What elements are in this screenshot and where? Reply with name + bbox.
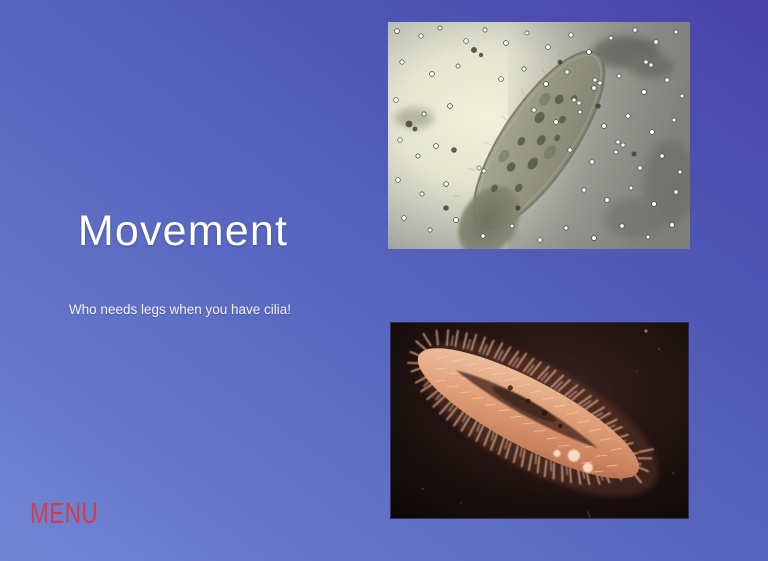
slide-subtitle: Who needs legs when you have cilia! (0, 253, 360, 319)
menu-link[interactable]: MENU (30, 500, 98, 529)
page-title: Movement (0, 210, 360, 253)
cilia-micrograph-graphic (391, 323, 688, 518)
cilia-electron-micrograph-image (391, 323, 688, 518)
paramecium-micrograph-graphic (388, 22, 690, 249)
slide-text-column: Movement Who needs legs when you have ci… (0, 210, 360, 319)
presentation-slide: Movement Who needs legs when you have ci… (0, 0, 768, 561)
paramecium-light-micrograph-image (388, 22, 690, 249)
